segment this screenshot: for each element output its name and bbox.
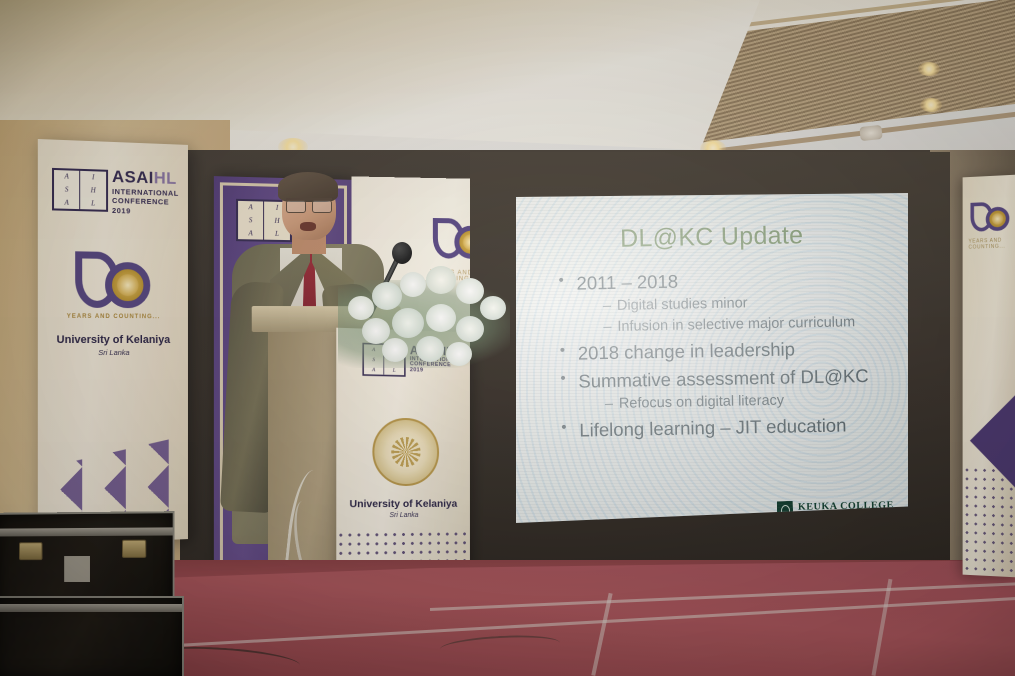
flower-arrangement	[338, 252, 510, 374]
banner-right: YEARS AND COUNTING...	[963, 175, 1015, 578]
slide-bullet-text: 2011 – 2018	[576, 271, 678, 294]
banner-left-university: University of Kelaniya	[38, 334, 188, 346]
equipment-road-case	[0, 596, 184, 676]
slide-bullet-list: 2011 – 2018 Digital studies minor Infusi…	[544, 265, 883, 445]
projection-screen: DL@KC Update 2011 – 2018 Digital studies…	[516, 193, 908, 523]
halftone-dot-pattern	[963, 465, 1015, 577]
slide-subbullet: Infusion in selective major curriculum	[603, 312, 881, 338]
asaihl-logo-icon: A S A I H L	[52, 168, 108, 212]
logo-letter: L	[91, 199, 95, 207]
slide-subbullet-list: Digital studies minor Infusion in select…	[577, 291, 882, 339]
anniversary-tagline: YEARS AND COUNTING...	[968, 237, 1015, 251]
logo-letter: H	[91, 186, 96, 194]
slide-title: DL@KC Update	[543, 220, 879, 255]
banner-left-country: Sri Lanka	[38, 348, 188, 357]
banner-left-line4: 2019	[112, 206, 179, 217]
ceiling-downlight-icon	[920, 98, 942, 112]
smoke-detector-icon	[859, 125, 882, 141]
slide-bullet-text: Summative assessment of DL@KC	[578, 365, 869, 392]
slide-subbullet-list: Refocus on digital literacy	[579, 389, 883, 416]
banner-left: A S A I H L ASAIHL INTERNATIONAL CONFERE…	[38, 139, 188, 545]
slide-bullet: 2011 – 2018 Digital studies minor Infusi…	[558, 265, 881, 339]
slide-subbullet: Refocus on digital literacy	[605, 389, 883, 415]
podium-banner-country: Sri Lanka	[336, 512, 470, 520]
logo-letter: A	[64, 198, 68, 206]
anniversary-60-logo-icon: YEARS AND COUNTING...	[38, 251, 188, 321]
slide-content: DL@KC Update 2011 – 2018 Digital studies…	[516, 193, 908, 523]
ceiling-downlight-icon	[918, 62, 940, 76]
speaker-mouth	[300, 222, 316, 231]
banner-left-wordmark: ASAIHL INTERNATIONAL CONFERENCE 2019	[112, 168, 179, 217]
org-name-part1: ASAI	[112, 167, 154, 187]
logo-letter: I	[92, 174, 94, 182]
logo-letter: S	[65, 185, 69, 193]
slide-bullet: Lifelong learning – JIT education	[561, 412, 883, 444]
logo-letter: A	[64, 173, 68, 181]
anniversary-60-logo-icon	[968, 201, 1012, 233]
university-seal-icon	[372, 418, 439, 487]
org-name-part2: HL	[154, 168, 177, 188]
anniversary-tagline: YEARS AND COUNTING...	[67, 314, 161, 320]
podium-banner-university: University of Kelaniya	[336, 498, 470, 510]
slide-bullet: Summative assessment of DL@KC Refocus on…	[560, 362, 883, 415]
conference-photo: A S A I H L ASAIHL INTERNATIONAL CONFERE…	[0, 0, 1015, 676]
glasses-icon	[286, 198, 332, 211]
